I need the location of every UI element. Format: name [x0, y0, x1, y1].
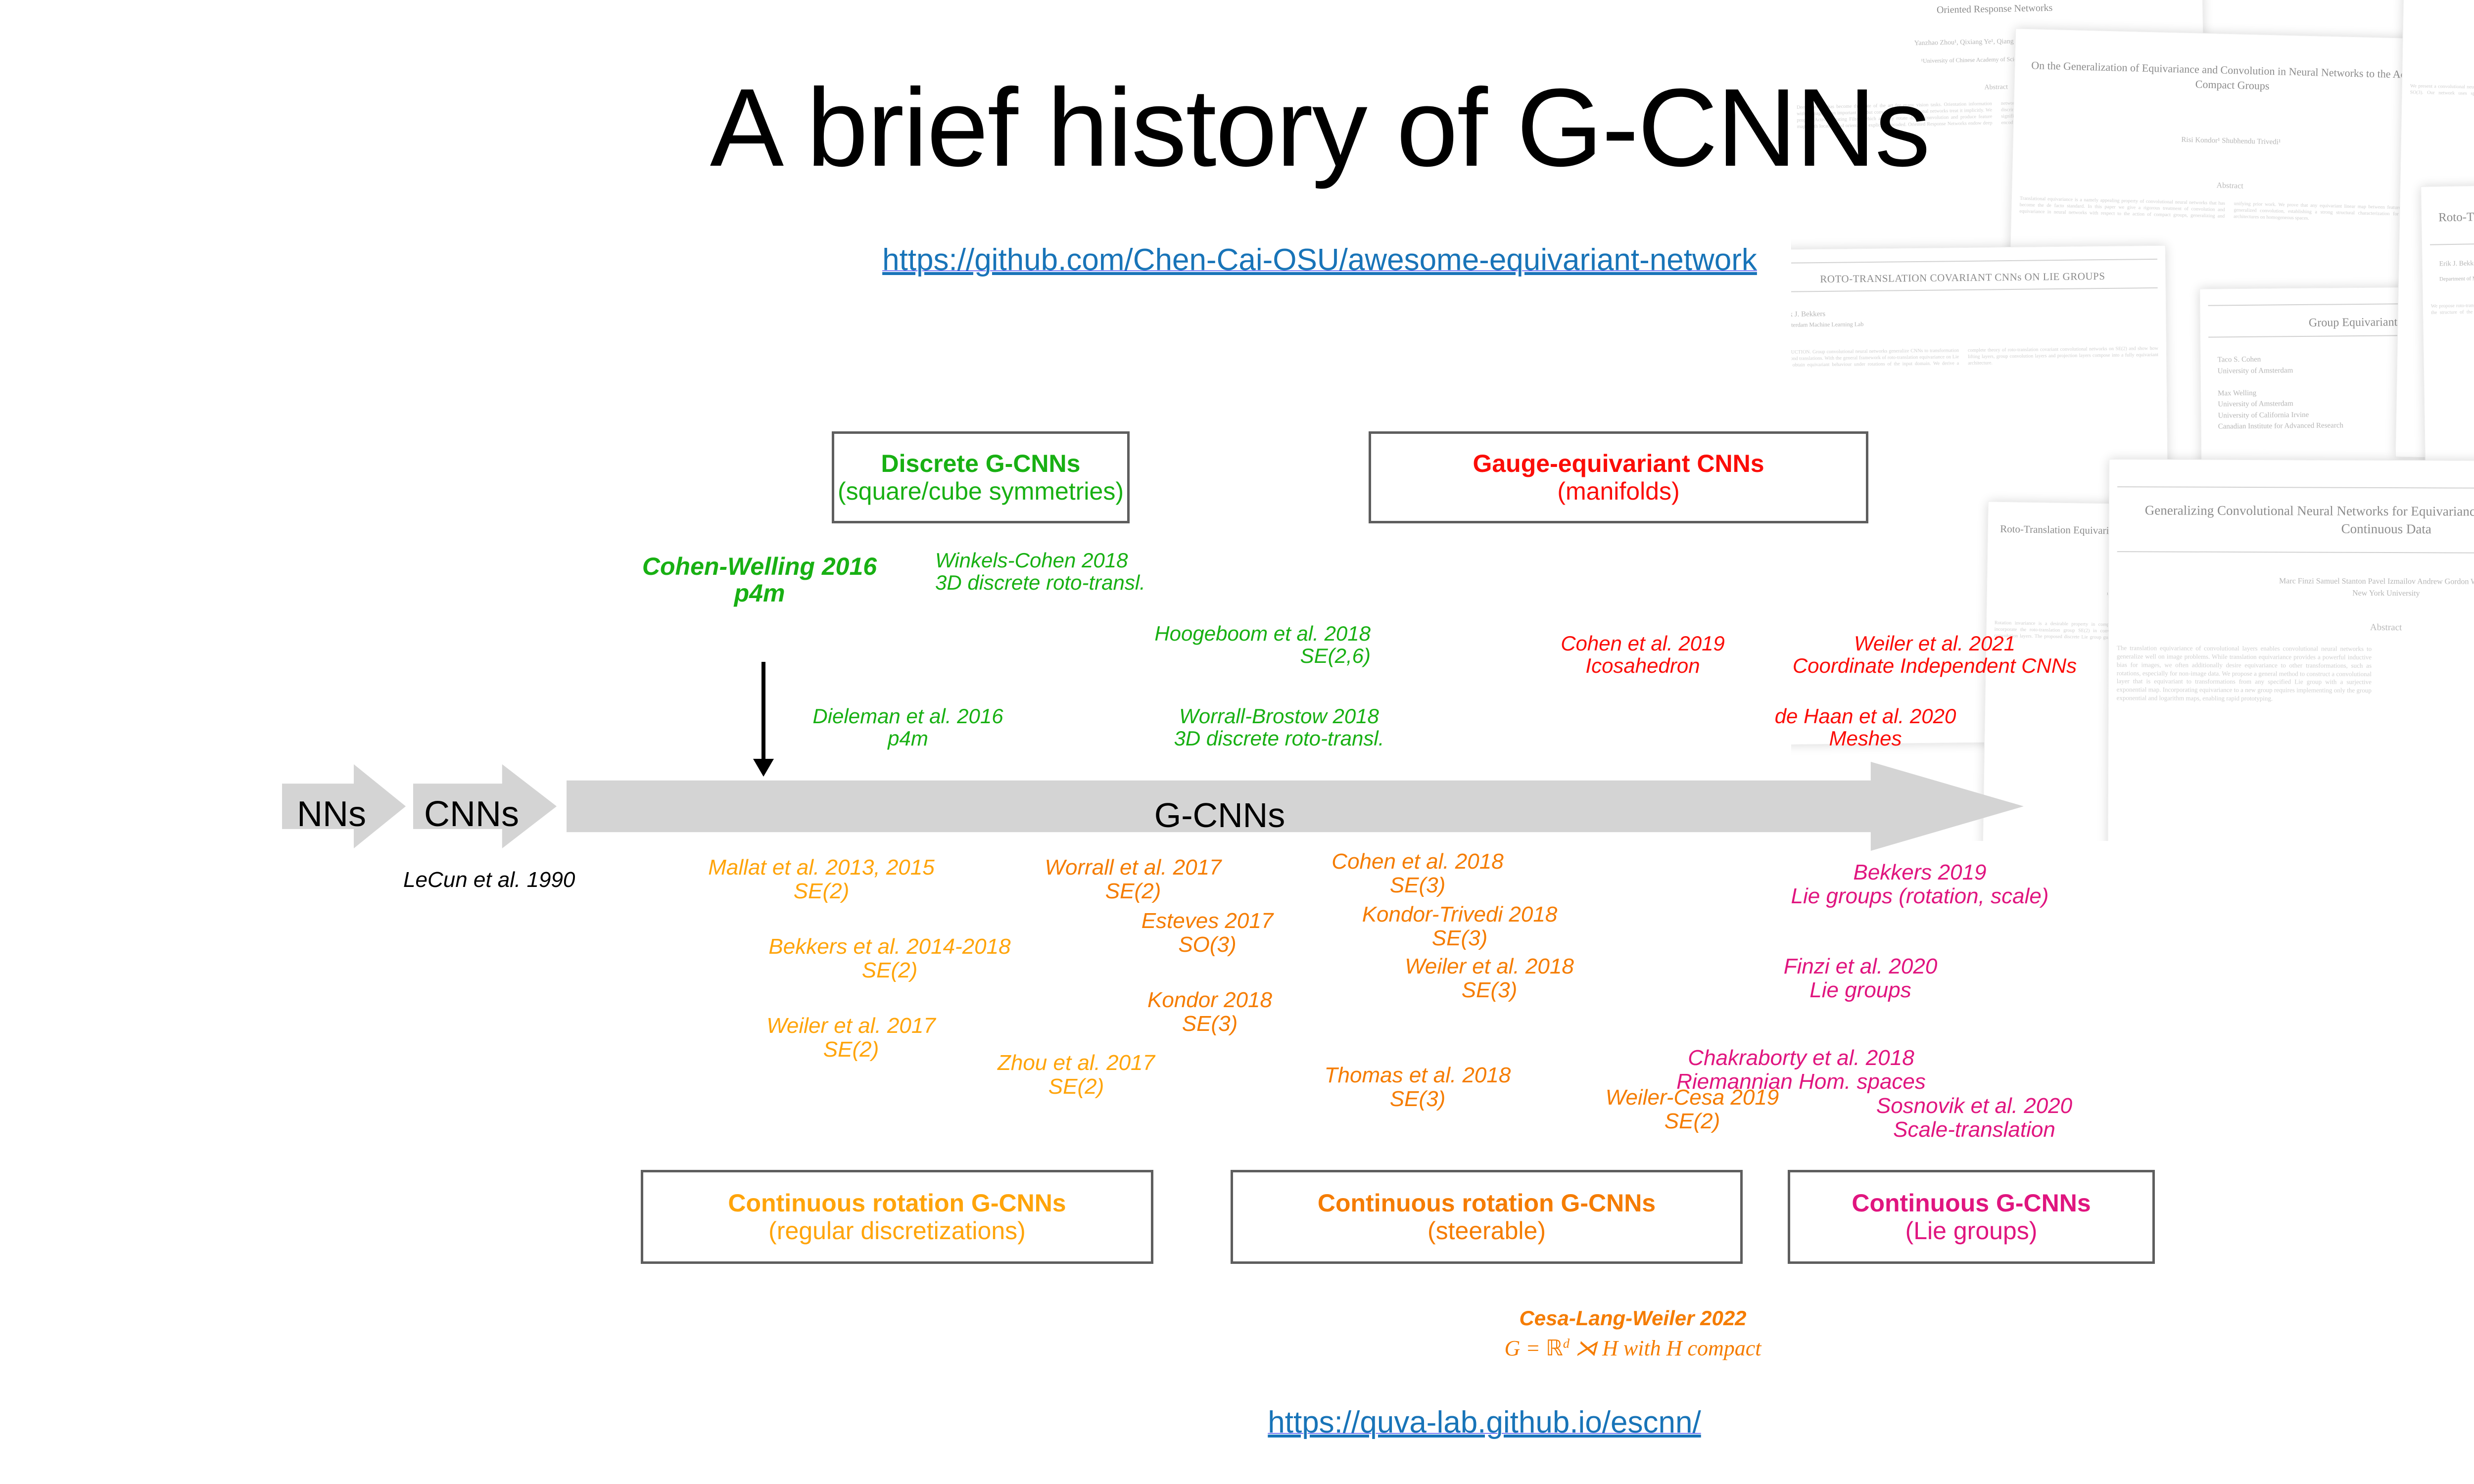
reference-thomas-2018-se3: Thomas et al. 2018 SE(3): [1264, 1064, 1571, 1111]
github-awesome-equivariant-link-text: https://github.com/Chen-Cai-OSU/awesome-…: [882, 243, 1757, 277]
reference-chakraborty-2018-riemannian: Chakraborty et al. 2018 Riemannian Hom. …: [1588, 1046, 2014, 1093]
reference-winkels-cohen-2018: Winkels-Cohen 2018 3D discrete roto-tran…: [935, 549, 1145, 594]
reference-hoogeboom-2018: Hoogeboom et al. 2018 SE(2,6): [940, 622, 1371, 667]
reference-bekkers-2019-lie-groups: Bekkers 2019 Lie groups (rotation, scale…: [1653, 861, 2187, 908]
github-awesome-equivariant-link[interactable]: https://github.com/Chen-Cai-OSU/awesome-…: [0, 242, 2474, 278]
paper-body: 1 INTRODUCTION. Group convolutional neur…: [1791, 342, 2166, 372]
formula-remainder: ⋊ H with H compact: [1570, 1336, 1761, 1360]
reference-kondor-trivedi-2018-se3: Kondor-Trivedi 2018 SE(3): [1294, 903, 1625, 950]
reference-bekkers-2014-2018: Bekkers et al. 2014-2018 SE(2): [702, 935, 1078, 982]
paper-authors: Carlos Esteves¹, Christine Allen-Blanche…: [2403, 24, 2474, 42]
paper-authors: Marc Finzi Samuel Stanton Pavel Izmailov…: [2109, 575, 2474, 601]
reference-worrall-2017-se2: Worrall et al. 2017 SE(2): [985, 856, 1282, 903]
timeline-label-nns: NNs: [282, 794, 381, 835]
reference-weiler-2021-coordinate-independent: Weiler et al. 2021 Coordinate Independen…: [1672, 632, 2197, 677]
reference-lecun: LeCun et al. 1990: [403, 868, 575, 892]
reference-dieleman-2016: Dieleman et al. 2016 p4m: [779, 705, 1037, 750]
page-title: A brief history of G-CNNs: [0, 64, 2474, 191]
category-box-gauge-equivariant-cnns: Gauge-equivariant CNNs (manifolds): [1369, 431, 1868, 523]
paper-title: Oriented Response Networks: [1791, 0, 2202, 20]
reference-cohen-welling-2016: Cohen-Welling 2016 p4m: [631, 553, 888, 606]
reference-kondor-2018-se3: Kondor 2018 SE(3): [1091, 988, 1329, 1035]
cohen-welling-down-arrow-icon: [761, 662, 765, 761]
category-box-title: Continuous G-CNNs: [1852, 1189, 2091, 1217]
reference-zhou-2017-se2: Zhou et al. 2017 SE(2): [943, 1051, 1210, 1098]
reference-worrall-brostow-2018: Worrall-Brostow 2018 3D discrete roto-tr…: [1074, 705, 1484, 750]
category-box-subtitle: (steerable): [1427, 1217, 1546, 1245]
paper-title: Generalizing Convolutional Neural Networ…: [2109, 501, 2474, 539]
cesa-lang-weiler-formula: G = ℝd ⋊ H with H compact: [1336, 1336, 1930, 1361]
category-box-title: Gauge-equivariant CNNs: [1473, 450, 1764, 477]
paper-title: Roto-Translation Covariant Convolutional…: [2422, 203, 2474, 227]
reference-mallat-2013-2015: Mallat et al. 2013, 2015 SE(2): [658, 856, 985, 903]
paper-body: Translational equivariance is a namely a…: [2011, 192, 2447, 228]
category-box-continuous-rotation-steerable: Continuous rotation G-CNNs (steerable): [1231, 1170, 1743, 1264]
category-box-title: Continuous rotation G-CNNs: [1318, 1189, 1656, 1217]
reference-cesa-lang-weiler-2022: Cesa-Lang-Weiler 2022: [1385, 1306, 1880, 1331]
category-box-subtitle: (Lie groups): [1905, 1217, 2038, 1245]
category-box-title: Continuous rotation G-CNNs: [728, 1189, 1066, 1217]
timeline-label-gcnns: G-CNNs: [567, 795, 1873, 835]
reference-finzi-2020-lie-groups: Finzi et al. 2020 Lie groups: [1712, 955, 2009, 1002]
reference-esteves-2017-so3: Esteves 2017 SO(3): [1086, 909, 1329, 956]
category-box-continuous-lie-groups: Continuous G-CNNs (Lie groups): [1788, 1170, 2155, 1264]
category-box-discrete-gcnns: Discrete G-CNNs (square/cube symmetries): [832, 431, 1130, 523]
formula-exponent: d: [1563, 1336, 1570, 1350]
paper-body: We propose roto-translation covariant co…: [2423, 293, 2474, 319]
formula-prefix: G =: [1505, 1336, 1546, 1360]
category-box-subtitle: (square/cube symmetries): [838, 477, 1124, 505]
reference-sosnovik-2020-scale-translation: Sosnovik et al. 2020 Scale-translation: [1791, 1094, 2157, 1141]
escnn-docs-link-text: https://quva-lab.github.io/escnn/: [1268, 1405, 1701, 1439]
reference-cohen-2018-se3: Cohen et al. 2018 SE(3): [1272, 850, 1564, 897]
escnn-docs-link[interactable]: https://quva-lab.github.io/escnn/: [1089, 1405, 1880, 1440]
category-box-subtitle: (manifolds): [1557, 477, 1679, 505]
timeline-label-cnns: CNNs: [415, 794, 528, 835]
paper-affiliation: ¹GRASP Laboratory, University of Pennsyl…: [2403, 43, 2474, 60]
category-box-continuous-rotation-regular: Continuous rotation G-CNNs (regular disc…: [641, 1170, 1153, 1264]
formula-reals-symbol: ℝ: [1546, 1336, 1563, 1361]
category-box-subtitle: (regular discretizations): [768, 1217, 1026, 1245]
reference-weiler-2018-se3: Weiler et al. 2018 SE(3): [1336, 955, 1643, 1002]
category-box-title: Discrete G-CNNs: [881, 450, 1081, 477]
reference-de-haan-2020-meshes: de Haan et al. 2020 Meshes: [1672, 705, 2058, 750]
